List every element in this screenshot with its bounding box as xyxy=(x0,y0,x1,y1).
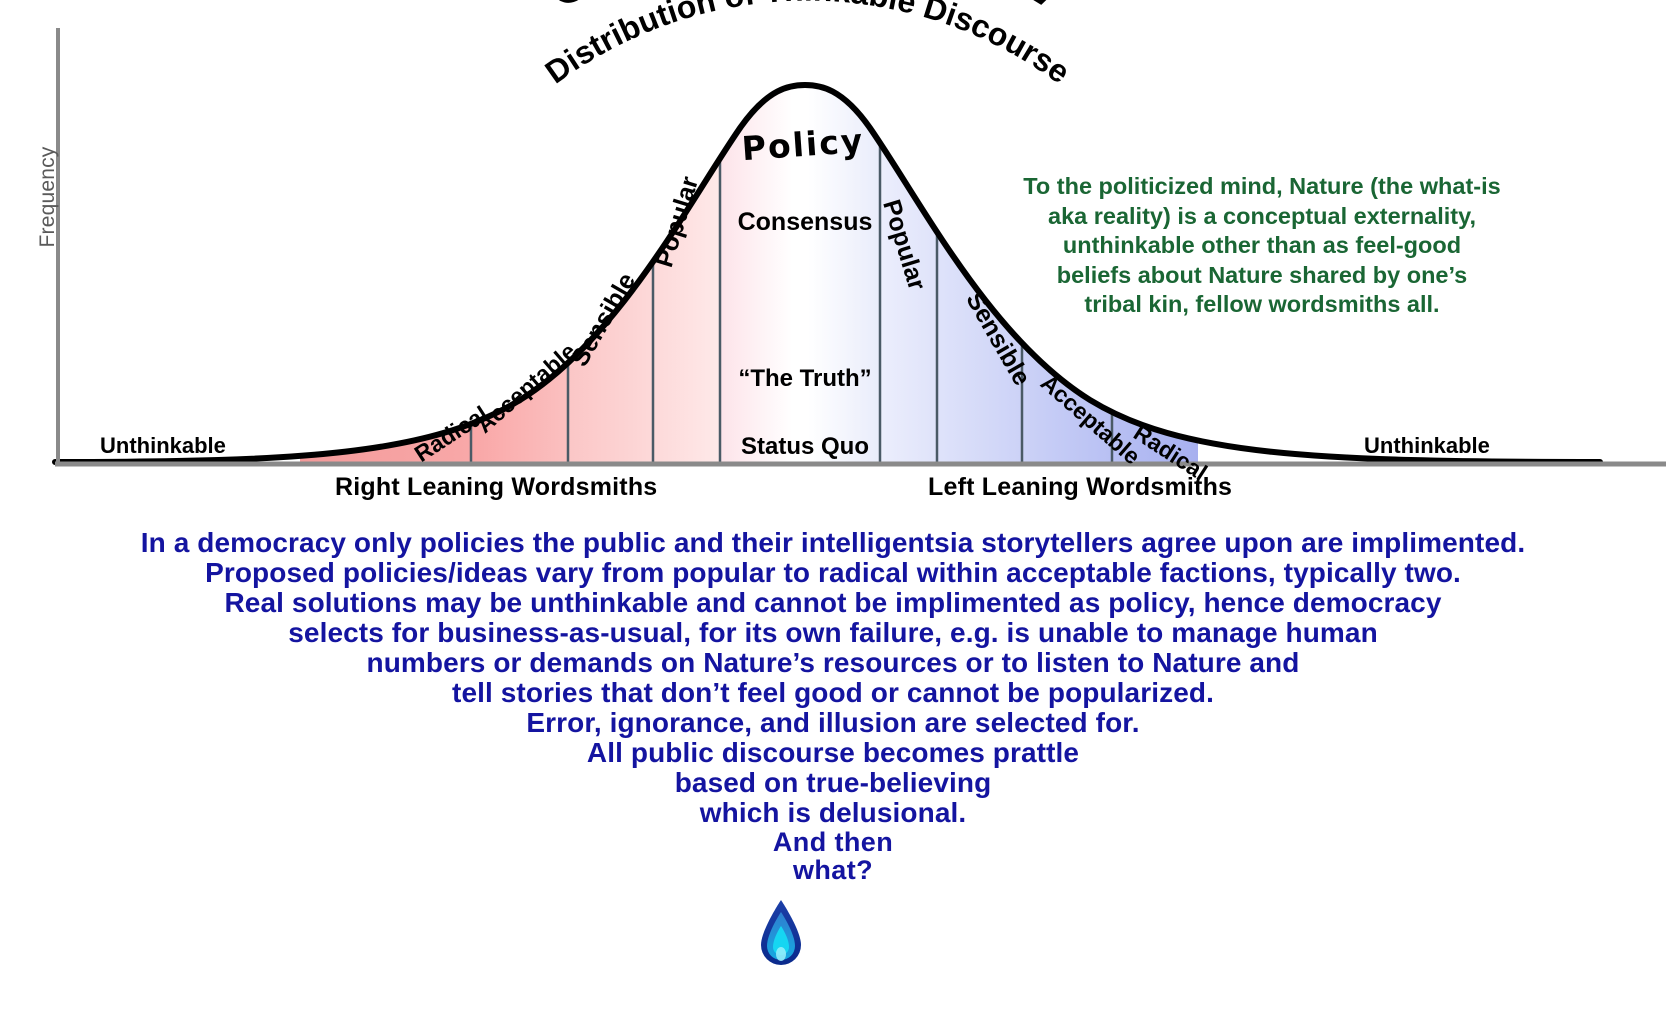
blue-line: based on true-believing xyxy=(0,768,1666,798)
blue-line: numbers or demands on Nature’s resources… xyxy=(0,648,1666,678)
chart-subtitle: Distribution of Thinkable Discourse xyxy=(539,0,1077,90)
blue-line: In a democracy only policies the public … xyxy=(0,528,1666,558)
green-annotation-line: unthinkable other than as feel-good xyxy=(962,231,1562,261)
the-truth-label: “The Truth” xyxy=(700,365,910,393)
blue-line: selects for business-as-usual, for its o… xyxy=(0,618,1666,648)
blue-line: All public discourse becomes prattle xyxy=(0,738,1666,768)
blue-line: what? xyxy=(0,856,1666,885)
blue-line: Real solutions may be unthinkable and ca… xyxy=(0,588,1666,618)
unthinkable-label-right: Unthinkable xyxy=(1364,433,1490,459)
blue-line: which is delusional. xyxy=(0,798,1666,828)
chart-subtitle-text: Distribution of Thinkable Discourse xyxy=(539,0,1077,90)
status-quo-label: Status Quo xyxy=(700,433,910,461)
blue-line: And then xyxy=(0,828,1666,857)
water-droplet-icon xyxy=(757,898,805,970)
chart-area: Overton Window Distribution of Thinkable… xyxy=(0,0,1666,515)
overton-window-figure: Overton Window Distribution of Thinkable… xyxy=(0,0,1666,1021)
green-annotation: To the politicized mind, Nature (the wha… xyxy=(962,172,1562,320)
green-annotation-line: aka reality) is a conceptual externality… xyxy=(962,202,1562,232)
faction-label-right-leaning: Right Leaning Wordsmiths xyxy=(335,473,657,502)
blue-line: Error, ignorance, and illusion are selec… xyxy=(0,708,1666,738)
green-annotation-line: To the politicized mind, Nature (the wha… xyxy=(962,172,1562,202)
band-right-radical xyxy=(300,60,471,465)
band-right-sensible xyxy=(568,60,653,465)
blue-line: Proposed policies/ideas vary from popula… xyxy=(0,558,1666,588)
y-axis-label: Frequency xyxy=(36,127,60,267)
green-annotation-line: beliefs about Nature shared by one’s xyxy=(962,261,1562,291)
unthinkable-label-left: Unthinkable xyxy=(100,433,226,459)
blue-commentary-block: In a democracy only policies the public … xyxy=(0,528,1666,885)
blue-line: tell stories that don’t feel good or can… xyxy=(0,678,1666,708)
green-annotation-line: tribal kin, fellow wordsmiths all. xyxy=(962,290,1562,320)
